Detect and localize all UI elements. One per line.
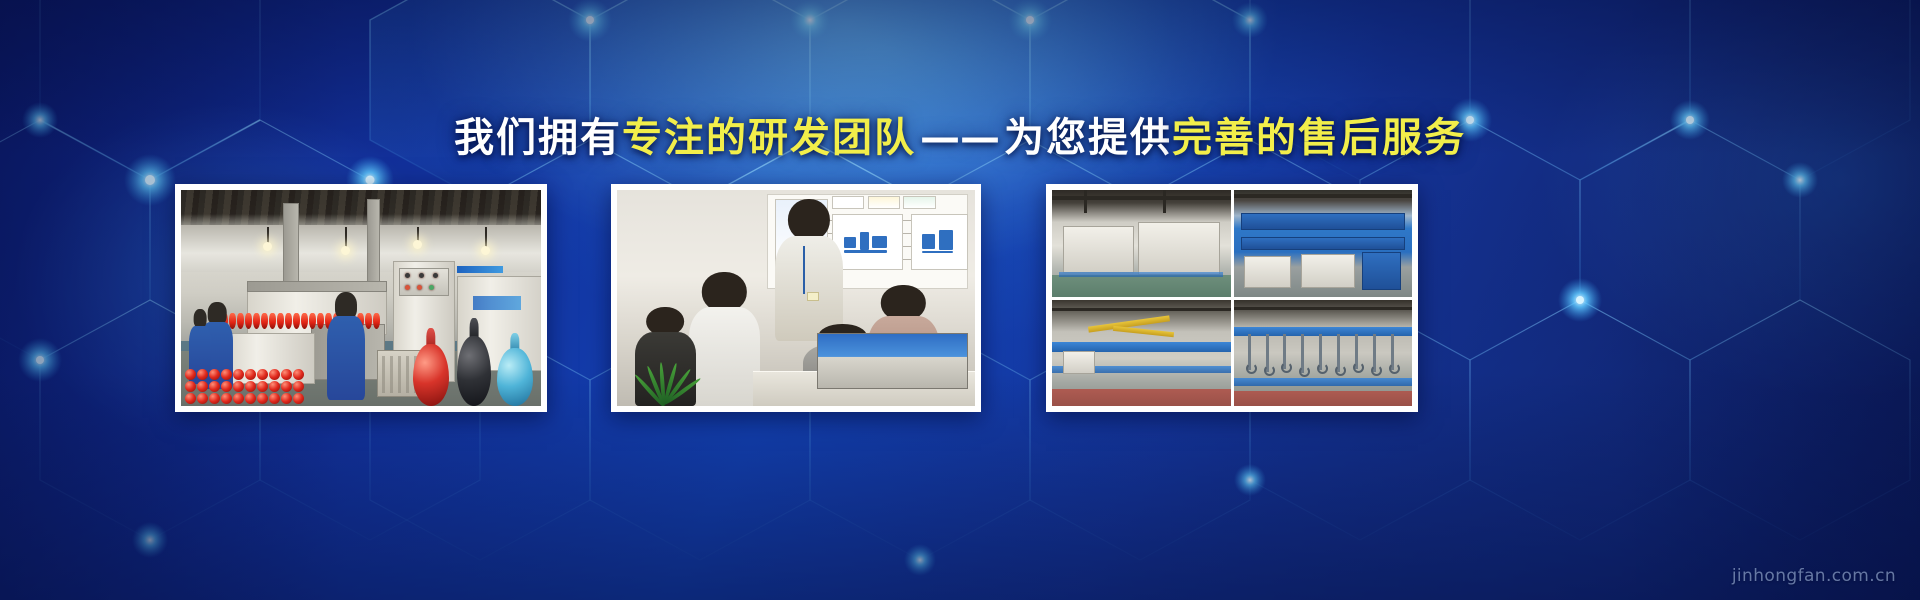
photo-frame-team-meeting[interactable]: [611, 184, 981, 412]
photo-gallery-row: [0, 184, 1920, 412]
ceiling-lamp: [413, 240, 422, 249]
headline-dash: ——: [916, 115, 1004, 161]
collage-cell-blue-ducting: [1234, 190, 1413, 297]
oven-cabinet: [1063, 226, 1134, 273]
headline-part-3: 为您提供: [1004, 115, 1172, 161]
photo-frame-equipment-collage[interactable]: [1046, 184, 1418, 412]
lamp-stem: [345, 227, 347, 247]
vase-cyan: [497, 348, 533, 406]
lanyard: [803, 246, 805, 294]
blue-duct: [1241, 237, 1405, 250]
foreground-plant: [624, 352, 704, 406]
collage-cell-curing-oven: [1052, 190, 1231, 297]
machine-diagram: [840, 222, 896, 259]
equipment-label: [457, 266, 503, 273]
overhead-rail: [1234, 327, 1413, 336]
banner-headline: 我们拥有专注的研发团队——为您提供完善的售后服务: [0, 105, 1920, 163]
yellow-crane-arm: [1113, 326, 1174, 337]
indicator-light: [417, 285, 422, 290]
photo-production-line: [181, 190, 541, 406]
collage-cell-hanging-line: [1234, 300, 1413, 407]
indicator-light: [405, 285, 410, 290]
collage-cell-conveyor: [1052, 300, 1231, 407]
headline-part-2-accent: 专注的研发团队: [622, 115, 916, 161]
lamp-stem: [267, 227, 269, 243]
id-badge: [807, 292, 819, 301]
poster-diagram: [832, 214, 904, 270]
photo-frame-production-line[interactable]: [175, 184, 547, 412]
headline-part-4-accent: 完善的售后服务: [1172, 115, 1466, 161]
red-spheres-pile: [185, 369, 305, 404]
worker-center: [327, 292, 365, 400]
hood-rail: [247, 281, 387, 292]
poster-small: [868, 196, 900, 209]
photo-equipment-collage: [1052, 190, 1412, 406]
lower-rail: [1234, 378, 1413, 385]
vase-red: [413, 344, 449, 406]
oven-display: [473, 296, 521, 310]
oven-cabinet: [1138, 222, 1220, 275]
headline-part-1: 我们拥有: [454, 115, 622, 161]
site-watermark: jinhongfan.com.cn: [1732, 566, 1896, 586]
promo-banner: 我们拥有专注的研发团队——为您提供完善的售后服务: [0, 0, 1920, 600]
poster-small: [903, 196, 935, 209]
equipment-cabinet: [1301, 254, 1355, 288]
ceiling-lamp: [263, 242, 272, 251]
control-panel: [399, 268, 449, 296]
ceiling-structure: [181, 190, 541, 227]
person-presenter: [775, 199, 843, 342]
indicator-light: [429, 285, 434, 290]
lamp-stem: [417, 227, 419, 241]
equipment-photo-inset: [817, 333, 967, 389]
photo-team-meeting: [617, 190, 975, 406]
vase-dark: [457, 336, 491, 406]
equipment-cabinet: [1244, 256, 1290, 288]
poster-diagram: [911, 214, 968, 270]
blue-tank: [1362, 252, 1401, 290]
machine-diagram: [918, 223, 960, 258]
lamp-stem: [485, 227, 487, 247]
blue-duct: [1241, 213, 1405, 230]
